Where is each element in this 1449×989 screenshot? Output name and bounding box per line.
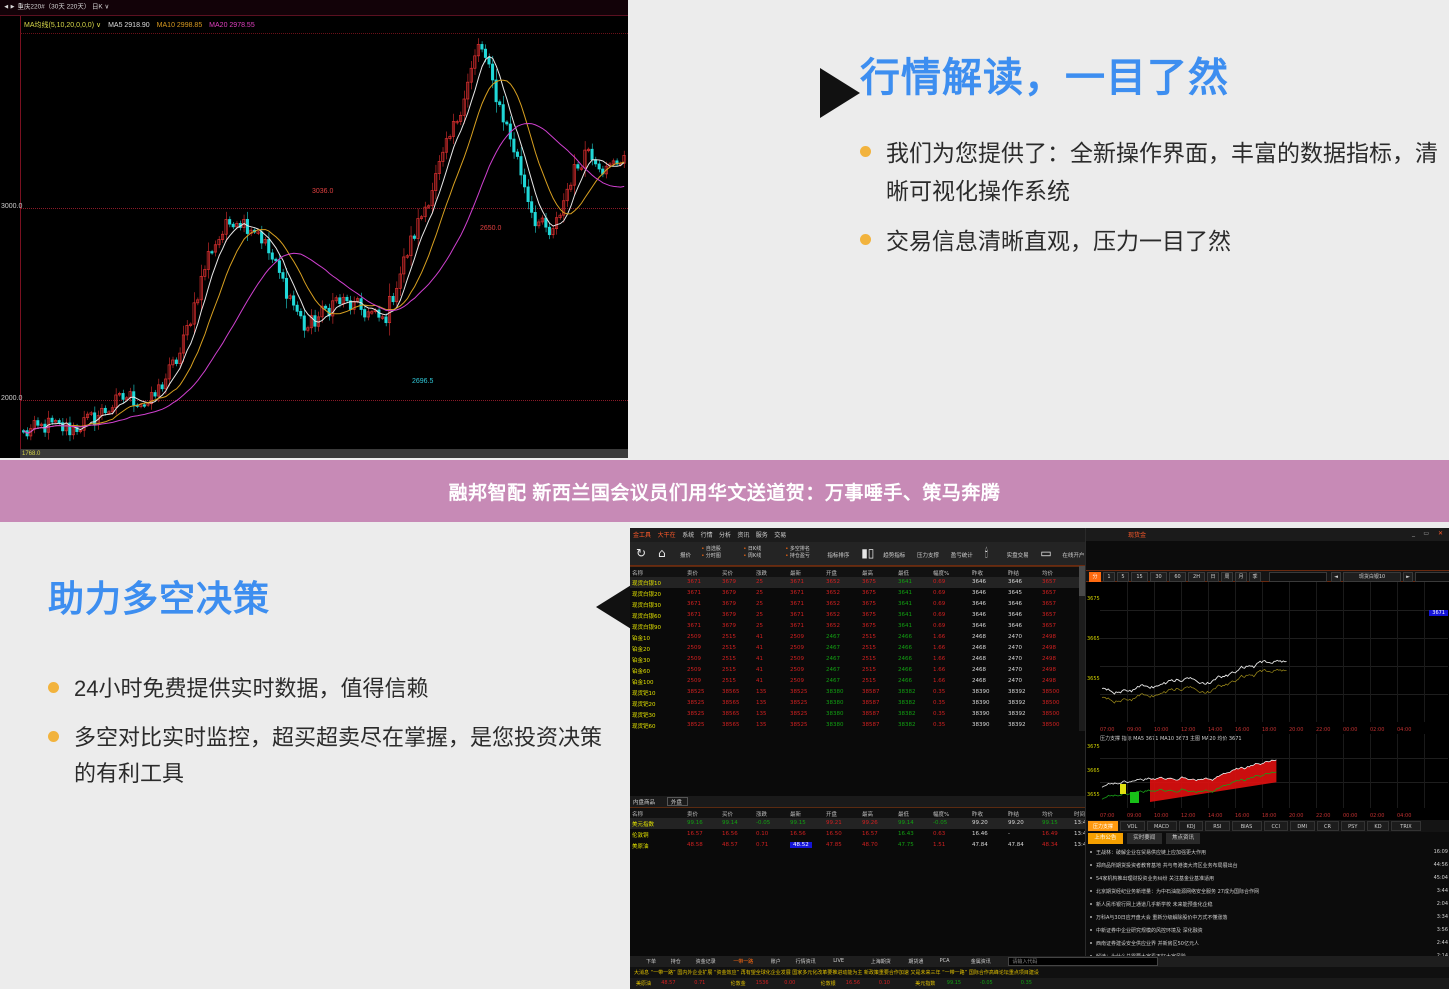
cell-1: 38565 xyxy=(722,700,740,706)
cell-0: 3671 xyxy=(687,590,701,596)
cell-0: 2509 xyxy=(687,667,701,673)
sub-tab-bar: 内盘商品外盘 xyxy=(630,796,1085,807)
cell-0: 3671 xyxy=(687,601,701,607)
menu-item-2[interactable]: 系统 xyxy=(682,530,694,539)
row-name: 铂金30 xyxy=(632,656,650,664)
cell-2: 25 xyxy=(756,612,763,618)
cell-1: 38565 xyxy=(722,722,740,728)
cell-2: 0.71 xyxy=(756,842,768,848)
news-item[interactable]: 西南证券建设安全供应业界 并新房区50亿元人 2:44 xyxy=(1086,937,1449,950)
cell-4: 3652 xyxy=(826,590,840,596)
row-name: 现货白银90 xyxy=(632,623,661,631)
news-tab-实时要闻[interactable]: 实时要闻 xyxy=(1127,833,1162,844)
cell-8: 38390 xyxy=(972,689,990,695)
period-button-2H[interactable]: 2H xyxy=(1188,572,1205,582)
table-row[interactable]: 现货钯203852538565135385253838038587383820.… xyxy=(630,698,1085,709)
table-row[interactable]: 铂金30250925154125092467251524661.66246824… xyxy=(630,654,1085,665)
symbol-input[interactable] xyxy=(1269,572,1327,582)
table-row[interactable]: 现货钯303852538565135385253838038587383820.… xyxy=(630,709,1085,720)
trading-app-screenshot: 金工具大干在系统行情分析资讯服务交易 ↻⌂报价• 自选股• 分时图• 日K线• … xyxy=(630,528,1449,989)
cell-4: 16.50 xyxy=(826,831,842,837)
cell-10: 48.34 xyxy=(1042,842,1058,848)
table-row[interactable]: 铂金10250925154125092467251524661.66246824… xyxy=(630,632,1085,643)
cell-0: 48.58 xyxy=(687,842,703,848)
news-item[interactable]: 中新证券中企业研究规模的风控环境及 深化融资 3:56 xyxy=(1086,924,1449,937)
fx-column-header-1[interactable]: 卖价 xyxy=(687,810,698,818)
table-row[interactable]: 现货钯103852538565135385253838038587383820.… xyxy=(630,687,1085,698)
cell-6: 3641 xyxy=(898,590,912,596)
toolbar-button-12[interactable]: 实盘交易 xyxy=(1007,551,1029,559)
news-item[interactable]: 新人民币银行网上通道几乎新学校 未来能预金化企稳 2:04 xyxy=(1086,898,1449,911)
fx-column-header-5[interactable]: 开盘 xyxy=(826,810,837,818)
cell-2: 135 xyxy=(756,689,767,695)
cell-8: 2468 xyxy=(972,645,986,651)
news-item[interactable]: 万科A与30日应开盘大会 重新分级解除股价中方式不懂涨落 3:34 xyxy=(1086,911,1449,924)
cell-7: -0.05 xyxy=(933,820,947,826)
column-header-6[interactable]: 最高 xyxy=(862,569,873,577)
cell-9: 3646 xyxy=(1008,612,1022,618)
news-tab-焦点资讯[interactable]: 焦点资讯 xyxy=(1166,833,1201,844)
period-button-1[interactable]: 1 xyxy=(1103,572,1115,582)
news-item[interactable]: 郑商品所期货投资者教育基地 共与粤港澳大湾区业务布局展出台 44:56 xyxy=(1086,859,1449,872)
candle-icon[interactable]: 🕯 xyxy=(985,547,988,559)
cell-5: 99.26 xyxy=(862,820,878,826)
period-button-分[interactable]: 分 xyxy=(1089,572,1101,582)
cell-1: 2515 xyxy=(722,656,736,662)
cell-8: 99.20 xyxy=(972,820,988,826)
cell-5: 38587 xyxy=(862,722,880,728)
row-name: 伦敦铜 xyxy=(632,831,649,839)
row-name: 现货钯60 xyxy=(632,722,656,730)
cell-1: 2515 xyxy=(722,634,736,640)
fx-column-header-4[interactable]: 最新 xyxy=(790,810,801,818)
cell-9: 38392 xyxy=(1008,689,1026,695)
cell-0: 38525 xyxy=(687,722,705,728)
cell-10: 38500 xyxy=(1042,722,1060,728)
toolbar-button-8[interactable]: 趋势指标 xyxy=(883,551,905,559)
news-time: 2:44 xyxy=(1437,940,1448,946)
cell-2: 25 xyxy=(756,579,763,585)
quote-table: 名称卖价买价涨跌最新开盘最高最低幅度%昨收昨结均价现货白银10367136792… xyxy=(630,566,1085,731)
cell-7: 1.66 xyxy=(933,678,945,684)
cell-7: 0.69 xyxy=(933,590,945,596)
prev-button[interactable]: ◄ xyxy=(1331,572,1341,582)
cell-7: 1.51 xyxy=(933,842,945,848)
news-time: 3:44 xyxy=(1437,888,1448,894)
cell-7: 1.66 xyxy=(933,645,945,651)
period-button-30[interactable]: 30 xyxy=(1150,572,1167,582)
menu-item-1[interactable]: 大干在 xyxy=(658,530,676,539)
cell-3: 3671 xyxy=(790,590,804,596)
cell-4: 38380 xyxy=(826,711,844,717)
account-icon[interactable]: ▭ xyxy=(1040,547,1051,559)
toolbar-button-14[interactable]: 在线开户 xyxy=(1062,551,1084,559)
column-header-0[interactable]: 名称 xyxy=(632,569,643,577)
cell-7: 1.66 xyxy=(933,656,945,662)
cell-0: 38525 xyxy=(687,711,705,717)
cell-10: 38500 xyxy=(1042,700,1060,706)
news-title: 北京期货经纪业务新增量：为中石油能源网络安全服务 27成为国际合作网 xyxy=(1096,888,1259,895)
news-title: 郑商品所期货投资者教育基地 共与粤港澳大湾区业务布局展出台 xyxy=(1096,862,1238,869)
kline-scrollbar[interactable] xyxy=(20,449,628,458)
indicator-tab-PSY[interactable]: PSY xyxy=(1341,821,1366,831)
cell-9: 47.84 xyxy=(1008,842,1024,848)
cell-2: 41 xyxy=(756,634,763,640)
cell-0: 3671 xyxy=(687,623,701,629)
status-menu-0[interactable]: 下单 xyxy=(646,958,656,965)
table-row[interactable]: 现货白银60367136792536713652367536410.693646… xyxy=(630,610,1085,621)
indicator-tab-CR[interactable]: CR xyxy=(1317,821,1339,831)
cell-8: 3646 xyxy=(972,601,986,607)
bullet-dot-icon xyxy=(1090,916,1092,918)
cell-4: 2467 xyxy=(826,645,840,651)
table-row[interactable]: 铂金20250925154125092467251524661.66246824… xyxy=(630,643,1085,654)
cell-5: 3675 xyxy=(862,579,876,585)
toolbar-button-6[interactable]: 指标排序 xyxy=(827,551,849,559)
fx-quote-table: 名称卖价买价涨跌最新开盘最高最低幅度%昨收昨结均价时间美元指数99.1699.1… xyxy=(630,807,1085,851)
table-row[interactable]: 现货白银20367136792536713652367536410.693646… xyxy=(630,588,1085,599)
cell-9: 2470 xyxy=(1008,678,1022,684)
cell-7: 0.63 xyxy=(933,831,945,837)
indicator-tab-CCI[interactable]: CCI xyxy=(1264,821,1289,831)
column-header-2[interactable]: 买价 xyxy=(722,569,733,577)
news-ticker[interactable]: 大消息 “一带一路” 国内外企业扩展 “资金效应” 再有望全球化企业发展 国家多… xyxy=(634,969,1039,976)
cell-9: 3645 xyxy=(1008,590,1022,596)
cell-5: 38587 xyxy=(862,711,880,717)
cell-9: 38392 xyxy=(1008,700,1026,706)
bottom-bullet-list: 24小时免费提供实时数据，值得信赖 多空对比实时监控，超买超卖尽在掌握，是您投资… xyxy=(48,671,608,792)
quote-name-2: 伦敦银 xyxy=(821,980,836,987)
news-tab-上市公告[interactable]: 上市公告 xyxy=(1088,833,1123,844)
menu-item-6[interactable]: 服务 xyxy=(756,530,768,539)
status-menu-8[interactable]: 期货通 xyxy=(908,958,923,965)
cell-2: 25 xyxy=(756,601,763,607)
news-item[interactable]: 北京期货经纪业务新增量：为中石油能源网络安全服务 27成为国际合作网 3:44 xyxy=(1086,885,1449,898)
status-menu-7[interactable]: 上海期货 xyxy=(871,958,891,965)
column-header-9[interactable]: 昨收 xyxy=(972,569,983,577)
cell-1: 38565 xyxy=(722,689,740,695)
fx-column-header-9[interactable]: 昨收 xyxy=(972,810,983,818)
quote-value-2-0: 16.56 xyxy=(846,980,860,986)
column-header-1[interactable]: 卖价 xyxy=(687,569,698,577)
cell-6: 47.75 xyxy=(898,842,914,848)
cell-10: 3657 xyxy=(1042,601,1056,607)
period-button-周[interactable]: 周 xyxy=(1221,572,1233,582)
column-header-8[interactable]: 幅度% xyxy=(933,569,949,577)
cell-5: 3675 xyxy=(862,601,876,607)
cell-9: 2470 xyxy=(1008,667,1022,673)
period-button-季[interactable]: 季 xyxy=(1249,572,1261,582)
indicator-tab-MACD[interactable]: MACD xyxy=(1147,821,1177,831)
period-button-5[interactable]: 5 xyxy=(1117,572,1129,582)
period-button-15[interactable]: 15 xyxy=(1131,572,1148,582)
fx-column-header-12[interactable]: 时间 xyxy=(1074,810,1085,818)
cell-4: 2467 xyxy=(826,667,840,673)
status-ticker-bar: 大消息 “一带一路” 国内外企业扩展 “资金效应” 再有望全球化企业发展 国家多… xyxy=(630,967,1449,978)
row-name: 现货钯10 xyxy=(632,689,656,697)
cell-0: 2509 xyxy=(687,634,701,640)
table-row[interactable]: 铂金60250925154125092467251524661.66246824… xyxy=(630,665,1085,676)
news-item[interactable]: 54家机构推出理财投资业务纠纷 关注基金业基准适用 45:04 xyxy=(1086,872,1449,885)
indicator-tab-VOL[interactable]: VOL xyxy=(1120,821,1145,831)
cell-7: 0.35 xyxy=(933,711,945,717)
news-item[interactable]: 王战林：破解企业在贸易供应链上应加强更大作用 16:09 xyxy=(1086,846,1449,859)
cell-4: 2467 xyxy=(826,634,840,640)
cell-1: 48.57 xyxy=(722,842,738,848)
fx-column-header-7[interactable]: 最低 xyxy=(898,810,909,818)
table-row[interactable]: 现货钯603852538565135385253838038587383820.… xyxy=(630,720,1085,731)
column-header-10[interactable]: 昨结 xyxy=(1008,569,1019,577)
cell-5: 2515 xyxy=(862,645,876,651)
indicator-series xyxy=(1086,734,1449,820)
cell-0: 38525 xyxy=(687,689,705,695)
cell-7: 1.66 xyxy=(933,634,945,640)
quote-name-1: 伦敦金 xyxy=(731,980,746,987)
indicator-chart: 压力支撑 指标 MA5 3671 MA10 3673 主图 MA20 均价 36… xyxy=(1086,734,1449,820)
indicator-tab-BIAS[interactable]: BIAS xyxy=(1232,821,1262,831)
column-header-4[interactable]: 最新 xyxy=(790,569,801,577)
indicator-tab-DMI[interactable]: DMI xyxy=(1290,821,1315,831)
cell-5: 3675 xyxy=(862,623,876,629)
cell-7: 0.69 xyxy=(933,612,945,618)
cell-4: 3652 xyxy=(826,623,840,629)
cell-6: 3641 xyxy=(898,601,912,607)
table-row[interactable]: 现货白银90367136792536713652367536410.693646… xyxy=(630,621,1085,632)
fx-column-header-0[interactable]: 名称 xyxy=(632,810,643,818)
fx-column-header-3[interactable]: 涨跌 xyxy=(756,810,767,818)
cell-6: 38382 xyxy=(898,722,916,728)
table-row[interactable]: 现货白银30367136792536713652367536410.693646… xyxy=(630,599,1085,610)
status-menu-9[interactable]: PCA xyxy=(940,958,950,964)
cell-10: 3657 xyxy=(1042,590,1056,596)
cell-4: 38380 xyxy=(826,689,844,695)
cell-9: 3646 xyxy=(1008,601,1022,607)
cell-8: 2468 xyxy=(972,634,986,640)
period-button-日[interactable]: 日 xyxy=(1207,572,1219,582)
status-quote-bar: 美原油48.570.71伦敦金15360.00伦敦银16.560.10美元指数9… xyxy=(630,978,1449,989)
cell-3: 99.15 xyxy=(790,820,806,826)
ind-x-tick: 20:00 xyxy=(1289,813,1303,819)
cell-10: 3657 xyxy=(1042,579,1056,585)
next-button[interactable]: ► xyxy=(1403,572,1413,582)
cell-4: 2467 xyxy=(826,678,840,684)
row-name: 铂金60 xyxy=(632,667,650,675)
cell-4: 3652 xyxy=(826,612,840,618)
minimize-icon[interactable]: _ xyxy=(1412,530,1415,537)
quote-value-1-0: 1536 xyxy=(756,980,769,986)
table-row[interactable]: 现货白银10367136792536713652367536410.693646… xyxy=(630,577,1085,588)
toolbar-group-5[interactable]: • 多空排名• 持仓盈亏 xyxy=(785,546,810,561)
fx-column-header-10[interactable]: 昨结 xyxy=(1008,810,1019,818)
cell-8: 3646 xyxy=(972,590,986,596)
menu-item-7[interactable]: 交易 xyxy=(774,530,786,539)
cell-6: 16.43 xyxy=(898,831,914,837)
ind-x-tick: 16:00 xyxy=(1235,813,1249,819)
news-time: 3:34 xyxy=(1437,914,1448,920)
quote-name-3: 美元指数 xyxy=(915,980,935,987)
cell-4: 38380 xyxy=(826,722,844,728)
status-menu-2[interactable]: 资金记录 xyxy=(696,958,716,965)
table-row[interactable]: 铂金100250925154125092467251524661.6624682… xyxy=(630,676,1085,687)
ind-x-tick: 04:00 xyxy=(1397,813,1411,819)
cell-1: 3679 xyxy=(722,579,736,585)
column-header-3[interactable]: 涨跌 xyxy=(756,569,767,577)
cell-3: 3671 xyxy=(790,579,804,585)
chart-icon[interactable]: ▮▯ xyxy=(861,547,874,559)
sub-tab-1[interactable]: 外盘 xyxy=(671,798,682,806)
toolbar-button-10[interactable]: 盈亏统计 xyxy=(951,551,973,559)
cell-0: 2509 xyxy=(687,656,701,662)
cell-5: 16.57 xyxy=(862,831,878,837)
close-icon[interactable]: ✕ xyxy=(1438,530,1443,537)
quote-value-3-0: 99.15 xyxy=(947,980,961,986)
status-menu-bar: 下单持仓资金记录一带一路账户行情资讯LIVE上海期货期货通PCA金属资讯请输入代… xyxy=(630,956,1449,967)
table-row[interactable]: 美元指数99.1699.14-0.0599.1599.2199.2699.14-… xyxy=(630,818,1085,829)
cell-3: 2509 xyxy=(790,667,804,673)
cell-10: 2498 xyxy=(1042,678,1056,684)
quote-value-3-1: -0.05 xyxy=(980,980,993,986)
menu-item-5[interactable]: 资讯 xyxy=(737,530,749,539)
cell-8: 2468 xyxy=(972,656,986,662)
cell-1: 3679 xyxy=(722,612,736,618)
cell-5: 2515 xyxy=(862,678,876,684)
cell-5: 3675 xyxy=(862,612,876,618)
cell-10: 38500 xyxy=(1042,711,1060,717)
banner-title: 融邦智配 新西兰国会议员们用华文送道贺：万事唾手、策马奔腾 xyxy=(449,478,1001,505)
cell-4: 47.85 xyxy=(826,842,842,848)
cell-0: 3671 xyxy=(687,579,701,585)
top-bullet-list: 我们为您提供了：全新操作界面，丰富的数据指标，清晰可视化操作系统 交易信息清晰直… xyxy=(860,135,1440,261)
period-button-60[interactable]: 60 xyxy=(1169,572,1186,582)
toolbar-button-9[interactable]: 压力支撑 xyxy=(917,551,939,559)
bottom-text-block: 助力多空决策 24小时免费提供实时数据，值得信赖 多空对比实时监控，超买超卖尽在… xyxy=(48,578,608,804)
menu-item-3[interactable]: 行情 xyxy=(701,530,713,539)
status-menu-6[interactable]: LIVE xyxy=(833,958,844,964)
cell-8: 38390 xyxy=(972,722,990,728)
quote-name-0: 美原油 xyxy=(636,980,651,987)
status-menu-4[interactable]: 账户 xyxy=(771,958,781,965)
row-name: 现货白银30 xyxy=(632,601,661,609)
fx-column-header-11[interactable]: 均价 xyxy=(1042,810,1053,818)
period-toolbar: 分151530602H日周月季◄现货白银10►设置▾全屏 xyxy=(1086,570,1449,582)
cell-3: 3671 xyxy=(790,623,804,629)
cell-3: 2509 xyxy=(790,645,804,651)
ind-x-tick: 10:00 xyxy=(1154,813,1168,819)
news-time: 16:09 xyxy=(1434,849,1448,855)
fx-column-header-2[interactable]: 买价 xyxy=(722,810,733,818)
toolbar-button-2[interactable]: 报价 xyxy=(680,551,691,559)
symbol-select[interactable]: 现货白银10 xyxy=(1343,572,1401,582)
menu-item-4[interactable]: 分析 xyxy=(719,530,731,539)
cell-6: 38382 xyxy=(898,711,916,717)
news-time: 45:04 xyxy=(1434,875,1448,881)
indicator-tab-KDJ[interactable]: KDJ xyxy=(1179,821,1204,831)
refresh-icon[interactable]: ↻ xyxy=(636,547,646,559)
news-time: 44:56 xyxy=(1434,862,1448,868)
price-badge: 3671 xyxy=(1429,610,1448,616)
column-header-7[interactable]: 最低 xyxy=(898,569,909,577)
bullet-dot-icon xyxy=(1090,929,1092,931)
menu-item-0[interactable]: 金工具 xyxy=(633,530,651,539)
cell-3: 3671 xyxy=(790,601,804,607)
quote-value-0-0: 48.57 xyxy=(661,980,675,986)
indicator-tab-RSI[interactable]: RSI xyxy=(1205,821,1230,831)
row-name: 现货白银20 xyxy=(632,590,661,598)
sub-tab-0[interactable]: 内盘商品 xyxy=(633,798,655,806)
column-header-11[interactable]: 均价 xyxy=(1042,569,1053,577)
ind-x-tick: 22:00 xyxy=(1316,813,1330,819)
bottom-bullet-1: 24小时免费提供实时数据，值得信赖 xyxy=(74,671,428,707)
cell-3: 38525 xyxy=(790,689,808,695)
indicator-tab-压力支撑[interactable]: 压力支撑 xyxy=(1088,821,1118,831)
top-bullet-2: 交易信息清晰直观，压力一目了然 xyxy=(886,223,1231,261)
cell-9: 38392 xyxy=(1008,722,1026,728)
cell-10: 2498 xyxy=(1042,634,1056,640)
row-name: 美元指数 xyxy=(632,820,654,828)
cell-1: 2515 xyxy=(722,645,736,651)
cell-6: 99.14 xyxy=(898,820,914,826)
cell-10: 38500 xyxy=(1042,689,1060,695)
cell-7: 0.35 xyxy=(933,689,945,695)
toolbar-group-4[interactable]: • 日K线• 周K线 xyxy=(743,546,761,561)
news-title: 中新证券中企业研究规模的风控环境及 深化融资 xyxy=(1096,927,1203,934)
status-menu-1[interactable]: 持仓 xyxy=(671,958,681,965)
cell-6: 3641 xyxy=(898,579,912,585)
status-menu-5[interactable]: 行情资讯 xyxy=(796,958,816,965)
quote-value-0-1: 0.71 xyxy=(694,980,705,986)
news-title: 王战林：破解企业在贸易供应链上应加强更大作用 xyxy=(1096,849,1206,856)
status-menu-3[interactable]: 一带一路 xyxy=(733,958,753,965)
cell-1: 16.56 xyxy=(722,831,738,837)
intraday-chart: 36753665365507:0009:0010:0012:0014:0016:… xyxy=(1086,582,1449,734)
period-button-月[interactable]: 月 xyxy=(1235,572,1247,582)
bullet-dot-icon xyxy=(48,731,59,742)
table-row[interactable]: 美原油48.5848.570.7148.5247.8548.7047.751.5… xyxy=(630,840,1085,851)
status-menu-10[interactable]: 金属资讯 xyxy=(971,958,991,965)
indicator-tab-TRIX[interactable]: TRIX xyxy=(1391,821,1421,831)
cell-8: 2468 xyxy=(972,667,986,673)
fx-column-header-6[interactable]: 最高 xyxy=(862,810,873,818)
cell-3: 16.56 xyxy=(790,831,806,837)
maximize-icon[interactable]: ▭ xyxy=(1423,530,1429,537)
cell-8: 38390 xyxy=(972,700,990,706)
top-bullet-1: 我们为您提供了：全新操作界面，丰富的数据指标，清晰可视化操作系统 xyxy=(886,135,1440,211)
cell-0: 38525 xyxy=(687,700,705,706)
cell-7: 0.69 xyxy=(933,623,945,629)
cell-10: 2498 xyxy=(1042,645,1056,651)
cell-2: 41 xyxy=(756,678,763,684)
app-toolbar: ↻⌂报价• 自选股• 分时图• 日K线• 周K线• 多空排名• 持仓盈亏指标排序… xyxy=(630,542,1085,566)
table-row[interactable]: 伦敦铜16.5716.560.1016.5616.5016.5716.430.6… xyxy=(630,829,1085,840)
cell-2: 25 xyxy=(756,623,763,629)
cell-6: 3641 xyxy=(898,612,912,618)
news-time: 2:04 xyxy=(1437,901,1448,907)
home-icon[interactable]: ⌂ xyxy=(658,547,666,559)
column-header-5[interactable]: 开盘 xyxy=(826,569,837,577)
toolbar-group-3[interactable]: • 自选股• 分时图 xyxy=(701,546,721,561)
right-chart-column: 现货金 _ ▭ ✕ 分151530602H日周月季◄现货白银10►设置▾全屏 3… xyxy=(1085,528,1449,989)
cell-8: 3646 xyxy=(972,579,986,585)
bullet-dot-icon xyxy=(48,682,59,693)
extra-input[interactable] xyxy=(1415,572,1449,582)
cell-4: 99.21 xyxy=(826,820,842,826)
indicator-tab-KD[interactable]: KD xyxy=(1367,821,1389,831)
fx-column-header-8[interactable]: 幅度% xyxy=(933,810,949,818)
cell-9: 2470 xyxy=(1008,645,1022,651)
ind-x-tick: 09:00 xyxy=(1127,813,1141,819)
cell-7: 1.66 xyxy=(933,667,945,673)
cell-0: 2509 xyxy=(687,678,701,684)
